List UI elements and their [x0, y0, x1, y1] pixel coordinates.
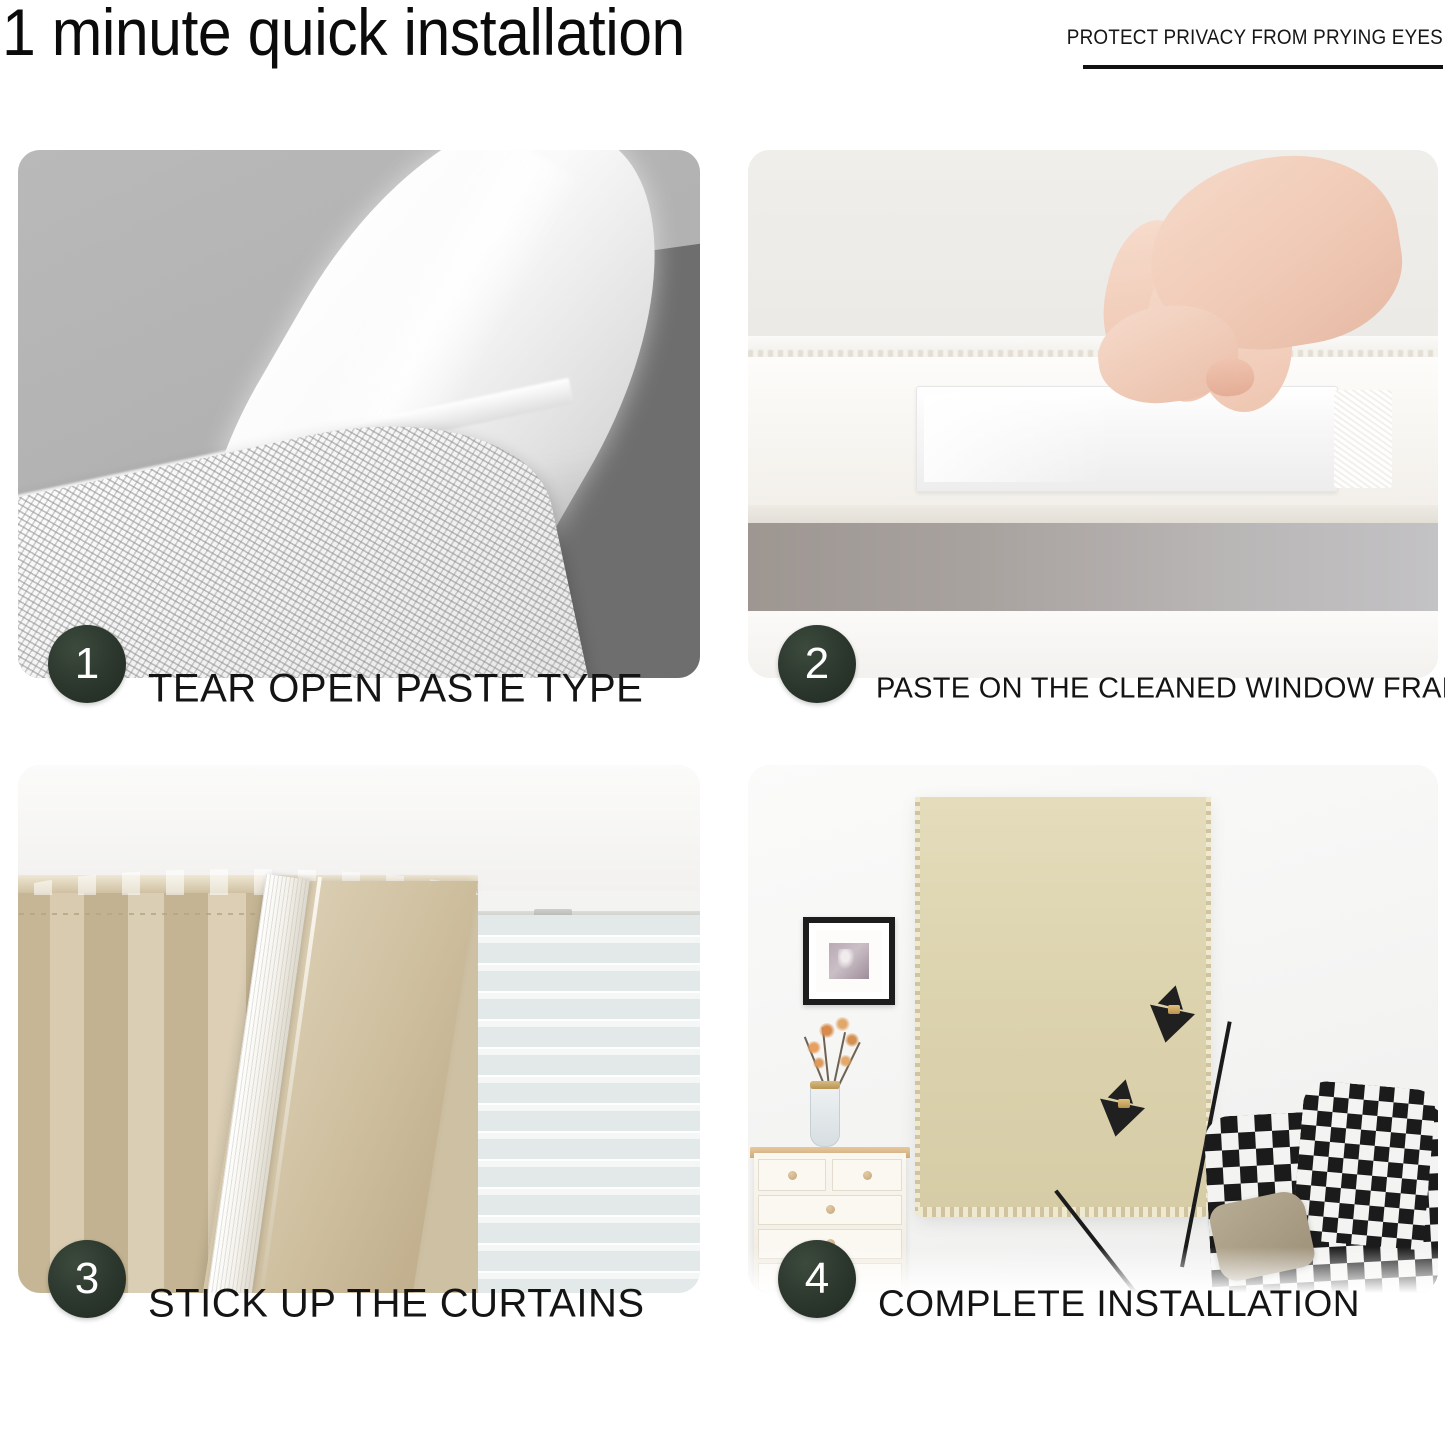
checkered-armchair-back — [1291, 1080, 1436, 1251]
berry-cluster-1 — [806, 1041, 822, 1054]
step-3-photo — [18, 765, 700, 1293]
glass-vase — [810, 1083, 840, 1147]
step-3-label: STICK UP THE CURTAINS — [148, 1282, 645, 1327]
step-2-label: PASTE ON THE CLEANED WINDOW FRAME — [876, 673, 1445, 706]
finished-room-image — [748, 765, 1438, 1293]
picture-artwork — [829, 943, 869, 979]
vase-gold-collar — [810, 1081, 840, 1089]
page-title: 1 minute quick installation — [2, 0, 685, 68]
step-1-caption: 1 TEAR OPEN PASTE TYPE — [18, 643, 700, 735]
drawer-knob-2 — [863, 1171, 872, 1180]
berry-cluster-3 — [834, 1017, 851, 1031]
step-number-badge-2: 2 — [778, 625, 856, 703]
tagline-underline — [1083, 65, 1443, 69]
step-card-1: 1 TEAR OPEN PASTE TYPE — [18, 150, 700, 735]
step-2-caption: 2 PASTE ON THE CLEANED WINDOW FRAME — [748, 643, 1438, 735]
step-4-photo — [748, 765, 1438, 1293]
window-frame-lip — [748, 505, 1438, 523]
step-4-caption: 4 COMPLETE INSTALLATION — [748, 1258, 1438, 1350]
berry-cluster-5 — [812, 1057, 826, 1069]
lamp-collar-2 — [1118, 1099, 1130, 1108]
step-number-badge-4: 4 — [778, 1240, 856, 1318]
paste-on-frame-image — [748, 150, 1438, 678]
berry-cluster-6 — [838, 1055, 853, 1067]
velcro-macro-image — [18, 150, 700, 678]
steps-grid: 1 TEAR OPEN PASTE TYPE — [0, 138, 1445, 1428]
tagline-text: PROTECT PRIVACY FROM PRYING EYES — [1067, 26, 1443, 50]
step-1-photo — [18, 150, 700, 678]
drawer-knob-3 — [826, 1205, 835, 1214]
step-4-label: COMPLETE INSTALLATION — [878, 1283, 1360, 1325]
step-2-photo — [748, 150, 1438, 678]
hand-pressing-icon — [1088, 158, 1398, 428]
drawer-knob-1 — [788, 1171, 797, 1180]
blind-bottom-hem — [918, 1207, 1208, 1217]
step-card-2: 2 PASTE ON THE CLEANED WINDOW FRAME — [748, 150, 1438, 735]
wall-lower-shadow — [748, 523, 1438, 611]
header: 1 minute quick installation PROTECT PRIV… — [0, 0, 1445, 132]
installed-blackout-blind — [918, 797, 1208, 1215]
berry-cluster-4 — [844, 1033, 860, 1047]
step-number-badge-3: 3 — [48, 1240, 126, 1318]
step-card-4: 4 COMPLETE INSTALLATION — [748, 765, 1438, 1350]
lamp-collar-1 — [1168, 1005, 1180, 1014]
step-3-caption: 3 STICK UP THE CURTAINS — [18, 1258, 700, 1350]
adhesive-strip-gloss — [924, 394, 1104, 482]
picture-mat — [816, 930, 882, 992]
framed-picture — [803, 917, 895, 1005]
step-number-badge-1: 1 — [48, 625, 126, 703]
step-1-label: TEAR OPEN PASTE TYPE — [148, 667, 643, 712]
step-card-3: 3 STICK UP THE CURTAINS — [18, 765, 700, 1350]
curtain-hanging-image — [18, 765, 700, 1293]
tagline-block: PROTECT PRIVACY FROM PRYING EYES — [1025, 26, 1443, 69]
